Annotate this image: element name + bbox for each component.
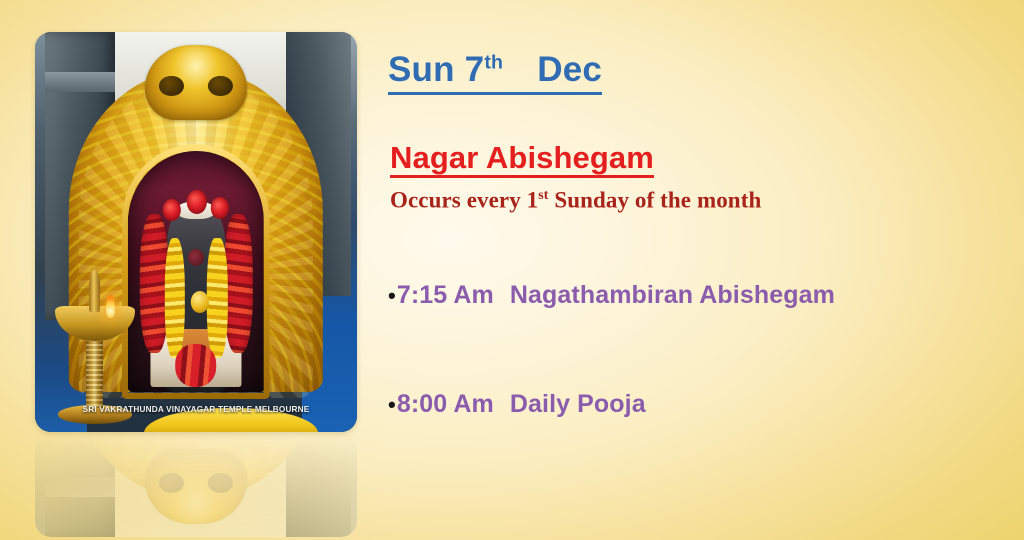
schedule-item: • 8:00 Am Daily Pooja: [388, 390, 646, 419]
schedule-item: • 7:15 Am Nagathambiran Abishegam: [388, 281, 835, 310]
date-day: 7: [465, 50, 485, 89]
brass-oil-lamp: [58, 264, 132, 424]
temple-event-slide: SRI VAKRATHUNDA VINAYAGAR TEMPLE MELBOUR…: [0, 0, 1024, 540]
schedule-time: 8:00 Am: [397, 390, 494, 419]
photo-caption: SRI VAKRATHUNDA VINAYAGAR TEMPLE MELBOUR…: [35, 405, 357, 414]
date-ordinal: th: [484, 51, 503, 73]
event-text-column: Sun 7thDec Nagar Abishegam Occurs every …: [388, 0, 1008, 540]
lamp-flame-icon: [106, 293, 115, 319]
arch-gold-rim: [122, 144, 270, 399]
schedule-time: 7:15 Am: [397, 281, 494, 310]
schedule-name: Nagathambiran Abishegam: [510, 281, 835, 310]
bullet-icon: •: [388, 285, 396, 307]
lamp-stem: [86, 334, 104, 408]
kirtimukha-crown-icon: [145, 45, 247, 121]
temple-photo: SRI VAKRATHUNDA VINAYAGAR TEMPLE MELBOUR…: [35, 32, 357, 432]
date-month: Dec: [537, 50, 602, 89]
date-heading: Sun 7thDec: [388, 52, 602, 95]
event-subtitle-ordinal: st: [538, 187, 548, 202]
bullet-icon: •: [388, 394, 396, 416]
schedule-name: Daily Pooja: [510, 390, 646, 419]
event-subtitle: Occurs every 1st Sunday of the month: [390, 187, 761, 214]
event-subtitle-suffix: Sunday of the month: [548, 188, 761, 213]
event-subtitle-prefix: Occurs every 1: [390, 188, 538, 213]
lamp-finial: [89, 270, 101, 312]
date-weekday: Sun: [388, 50, 455, 89]
temple-photo-card: SRI VAKRATHUNDA VINAYAGAR TEMPLE MELBOUR…: [35, 32, 357, 432]
event-title: Nagar Abishegam: [390, 141, 654, 178]
